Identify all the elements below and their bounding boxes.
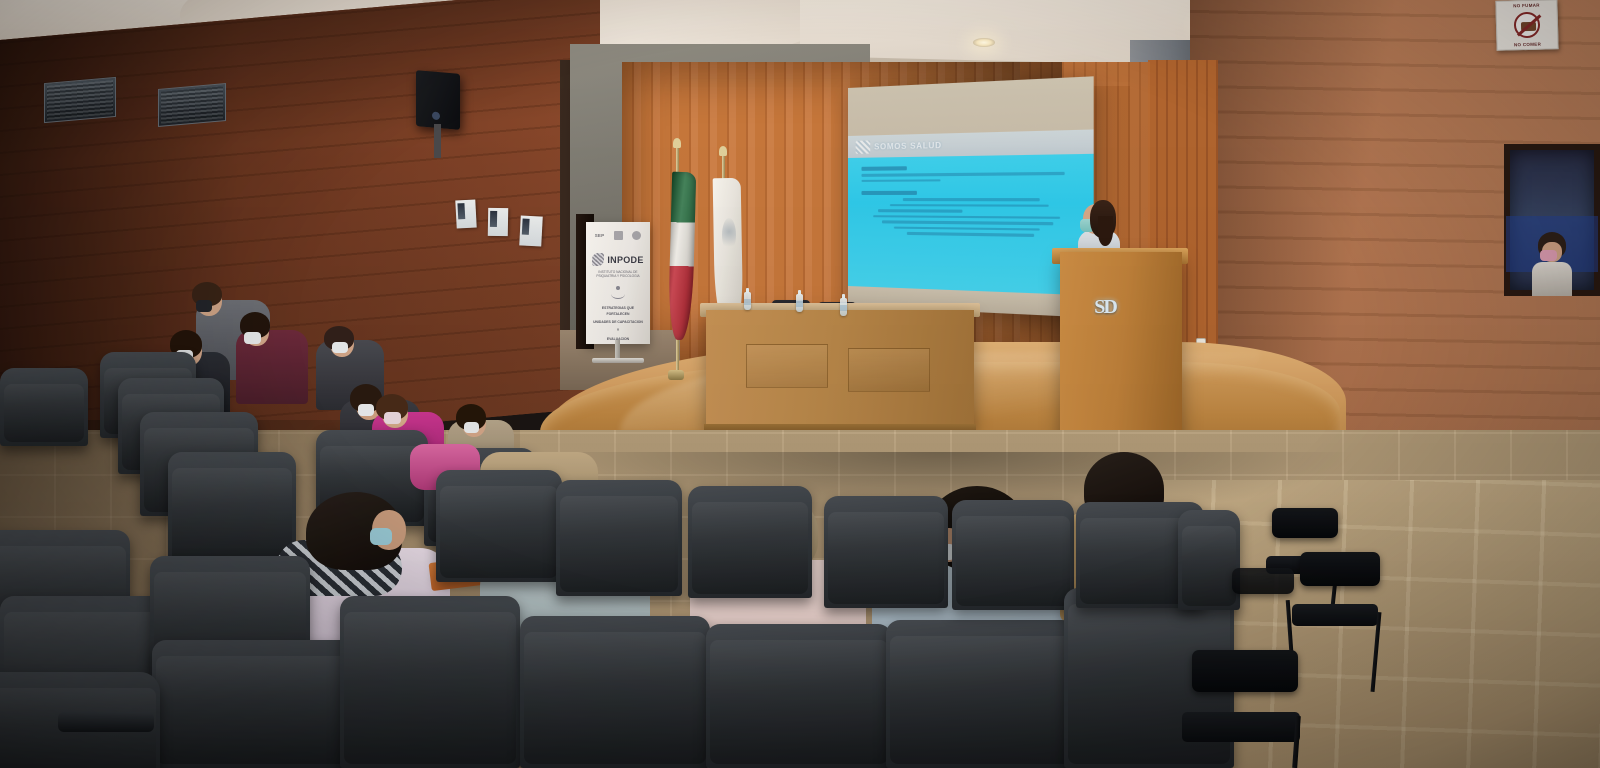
attendee-face-mask [196, 300, 212, 312]
flagpole-finial-icon [719, 146, 727, 156]
auditorium-seat[interactable] [152, 640, 362, 768]
podium [1060, 252, 1182, 452]
auditorium-photo: NO FUMAR NO COMER SOMOS SALUD [0, 0, 1600, 768]
table-front-panel [848, 348, 930, 392]
water-bottle [796, 294, 803, 312]
stacking-chair-seat[interactable] [1292, 604, 1378, 626]
stacking-chair-back[interactable] [1300, 552, 1380, 586]
banner-brand: INPODE [607, 255, 643, 265]
wall-vent [44, 77, 116, 123]
auditorium-seat[interactable] [168, 452, 296, 570]
banner-brand-row: INPODE [592, 253, 643, 266]
head-table [706, 310, 974, 432]
speaker-hair-back [1098, 216, 1113, 246]
window-attendee-mask [1540, 250, 1557, 261]
pa-speaker [416, 70, 460, 130]
banner-graphic-icon [611, 289, 625, 299]
wall-flyer [519, 215, 543, 246]
banner-logo-mark [614, 231, 623, 240]
auditorium-seat[interactable] [436, 470, 562, 582]
flagpole-finial-icon [673, 138, 681, 148]
slide-body [848, 154, 1094, 296]
slide-title: SOMOS SALUD [874, 140, 942, 151]
banner-base [592, 358, 644, 363]
attendee-face-mask [244, 332, 261, 344]
flagpole-base [668, 370, 684, 380]
stacking-chair-back[interactable] [1272, 508, 1338, 538]
auditorium-seat[interactable] [1178, 510, 1240, 610]
no-food-icon [1514, 12, 1541, 39]
pa-speaker-mount [434, 124, 441, 158]
banner-seal-logo [632, 231, 641, 240]
wall-vent [158, 83, 226, 127]
auditorium-seat[interactable] [952, 500, 1074, 610]
screen-blank-band [848, 76, 1094, 136]
downlight-icon [973, 38, 995, 47]
window-attendee-body [1532, 262, 1572, 296]
auditorium-seat[interactable] [824, 496, 948, 608]
attendee-face-mask [464, 422, 479, 433]
institutional-flag-emblem [722, 218, 736, 252]
stacking-chair-back[interactable] [1192, 650, 1298, 692]
institutional-seal-logo [856, 140, 871, 153]
sign-top-label: NO FUMAR [1513, 3, 1540, 9]
auditorium-seat[interactable] [556, 480, 682, 596]
podium-logo: SD [1086, 292, 1124, 322]
wall-flyer [488, 208, 508, 236]
wall-flyer [455, 199, 476, 228]
water-bottle [840, 298, 847, 316]
attendee-face-mask [384, 412, 401, 424]
auditorium-seat[interactable] [520, 616, 710, 768]
banner-footer-line-2: UNIDADES DE CAPACITACION [591, 320, 645, 325]
attendee-face-mask [358, 404, 374, 416]
projection-screen: SOMOS SALUD [848, 76, 1094, 317]
table-front-panel [746, 344, 828, 388]
auditorium-seat[interactable] [706, 624, 892, 768]
stacking-chair-seat[interactable] [1182, 712, 1300, 742]
attendee-face-mask [332, 342, 348, 353]
water-bottle [744, 292, 751, 310]
banner-subtitle: INSTITUTO NACIONAL DE PSIQUIATRIA Y PSIC… [591, 270, 645, 279]
inpode-logo-icon [592, 253, 604, 266]
seat-armrest [58, 712, 154, 732]
auditorium-seat[interactable] [886, 620, 1076, 768]
banner-top-logos: SEP [590, 228, 646, 242]
sep-logo: SEP [595, 233, 605, 238]
attendee-face-mask [370, 528, 392, 545]
sign-bottom-label: NO COMER [1514, 42, 1541, 48]
banner-footer-line-3: Y [591, 328, 645, 333]
rollup-banner: SEP INPODE INSTITUTO NACIONAL DE PSIQUIA… [586, 222, 650, 344]
auditorium-seat[interactable] [340, 596, 520, 768]
auditorium-seat[interactable] [688, 486, 812, 598]
no-eating-sign: NO FUMAR NO COMER [1495, 0, 1558, 51]
banner-footer-line-1: ESTRATEGIAS QUE FORTALECEN [591, 306, 645, 317]
auditorium-seat[interactable] [0, 368, 88, 446]
stacking-chair-back[interactable] [1232, 568, 1294, 594]
